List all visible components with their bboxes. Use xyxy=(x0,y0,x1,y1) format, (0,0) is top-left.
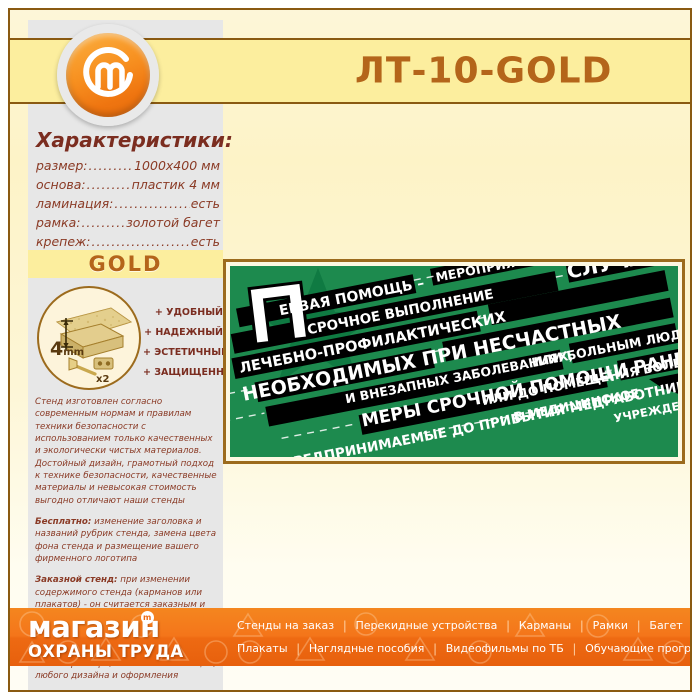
footer-links-row-1: Стенды на заказ | Перекидные устройства … xyxy=(228,614,686,637)
spec-row: рамка: .................. золотой багет xyxy=(36,215,220,230)
link-separator: | xyxy=(506,618,509,633)
feature-bullet: + УДОБНЫЙ xyxy=(143,307,223,318)
logo-disc xyxy=(66,33,150,117)
magazin-m-logo-icon xyxy=(57,24,159,126)
footer-link-flip-displays[interactable]: Перекидные устройства xyxy=(346,619,506,632)
spec-value: 1000х400 мм xyxy=(134,158,220,173)
spec-row: крепеж: ................................… xyxy=(36,234,220,249)
spec-value: пластик 4 мм xyxy=(132,177,220,192)
spec-dots: .................. xyxy=(81,215,125,230)
logo-m-mark-icon xyxy=(66,33,150,117)
product-card-page: ЛТ-10-GOLD Характеристики: размер: .....… xyxy=(0,0,700,700)
link-separator: | xyxy=(433,641,436,656)
registered-trademark-icon: m xyxy=(141,611,154,624)
footer-link-posters[interactable]: Плакаты xyxy=(228,642,297,655)
specs-list: размер: ..................... 1000х400 м… xyxy=(36,158,220,253)
poster-preview-frame[interactable]: ЕРВАЯ ПОМОЩЬ – СРОЧНОЕ ВЫПОЛНЕНИЕ МЕРОПР… xyxy=(223,259,685,464)
site-footer: магазин m ОХРАНЫ ТРУДА Стенды на заказ |… xyxy=(10,608,690,666)
footer-brand-logo[interactable]: магазин m ОХРАНЫ ТРУДА xyxy=(28,613,220,663)
link-separator: | xyxy=(573,641,576,656)
spec-value: есть xyxy=(191,196,220,211)
footer-link-training-programs[interactable]: Обучающие программы xyxy=(576,642,690,655)
spec-row: размер: ..................... 1000х400 м… xyxy=(36,158,220,173)
first-aid-poster: ЕРВАЯ ПОМОЩЬ – СРОЧНОЕ ВЫПОЛНЕНИЕ МЕРОПР… xyxy=(230,266,678,457)
poster-artwork: ЕРВАЯ ПОМОЩЬ – СРОЧНОЕ ВЫПОЛНЕНИЕ МЕРОПР… xyxy=(230,266,678,457)
brand-name-primary: магазин xyxy=(28,613,160,642)
feature-bullets: + УДОБНЫЙ + НАДЕЖНЫЙ + ЭСТЕТИЧНЫЙ + ЗАЩИ… xyxy=(143,307,223,387)
footer-link-visual-aids[interactable]: Наглядные пособия xyxy=(300,642,433,655)
copy-paragraph: Бесплатно: изменение заголовка и названи… xyxy=(35,516,219,565)
footer-link-safety-videos[interactable]: Видеофильмы по ТБ xyxy=(437,642,573,655)
footer-link-frames[interactable]: Рамки xyxy=(584,619,637,632)
fastener-count-label: x2 xyxy=(96,374,109,385)
spec-key: размер: xyxy=(36,158,88,173)
spec-value: есть xyxy=(191,234,220,249)
thickness-label: 4mm xyxy=(50,340,84,359)
footer-links-row-2: Плакаты | Наглядные пособия | Видеофильм… xyxy=(228,637,686,660)
spec-key: крепеж: xyxy=(36,234,91,249)
thickness-number: 4 xyxy=(50,338,63,360)
spec-dots: ..................... xyxy=(89,158,134,173)
link-separator: | xyxy=(637,618,640,633)
spec-dots: .................................. xyxy=(92,234,190,249)
link-separator: | xyxy=(580,618,583,633)
spec-key: рамка: xyxy=(36,215,80,230)
specs-heading: Характеристики: xyxy=(36,128,233,152)
link-separator: | xyxy=(297,641,300,656)
feature-bullet: + НАДЕЖНЫЙ xyxy=(143,327,223,338)
footer-link-stands-on-order[interactable]: Стенды на заказ xyxy=(228,619,343,632)
spec-key: ламинация: xyxy=(36,196,113,211)
spec-key: основа: xyxy=(36,177,86,192)
gold-badge-label: GOLD xyxy=(89,252,163,276)
feature-bullet: + ЗАЩИЩЕННЫЙ xyxy=(143,367,223,378)
spec-value: золотой багет xyxy=(126,215,220,230)
product-code-title: ЛТ-10-GOLD xyxy=(355,51,612,92)
panel-cross-section-diagram: 4mm x2 xyxy=(37,286,141,390)
footer-link-baguette[interactable]: Багет xyxy=(640,619,690,632)
link-separator: | xyxy=(343,618,346,633)
copy-paragraph: Стенд изготовлен согласно современным но… xyxy=(35,396,219,507)
feature-bullet: + ЭСТЕТИЧНЫЙ xyxy=(143,347,223,358)
thickness-unit: mm xyxy=(63,347,84,358)
footer-link-pockets[interactable]: Карманы xyxy=(510,619,580,632)
spec-dots: ............................ xyxy=(114,196,189,211)
footer-links: Стенды на заказ | Перекидные устройства … xyxy=(228,614,686,660)
spec-dots: .................... xyxy=(87,177,131,192)
spec-row: ламинация: ............................ … xyxy=(36,196,220,211)
spec-row: основа: .................... пластик 4 м… xyxy=(36,177,220,192)
gold-badge-strip: GOLD xyxy=(28,250,223,278)
card-canvas: ЛТ-10-GOLD Характеристики: размер: .....… xyxy=(10,10,690,690)
brand-name-secondary: ОХРАНЫ ТРУДА xyxy=(28,644,220,661)
